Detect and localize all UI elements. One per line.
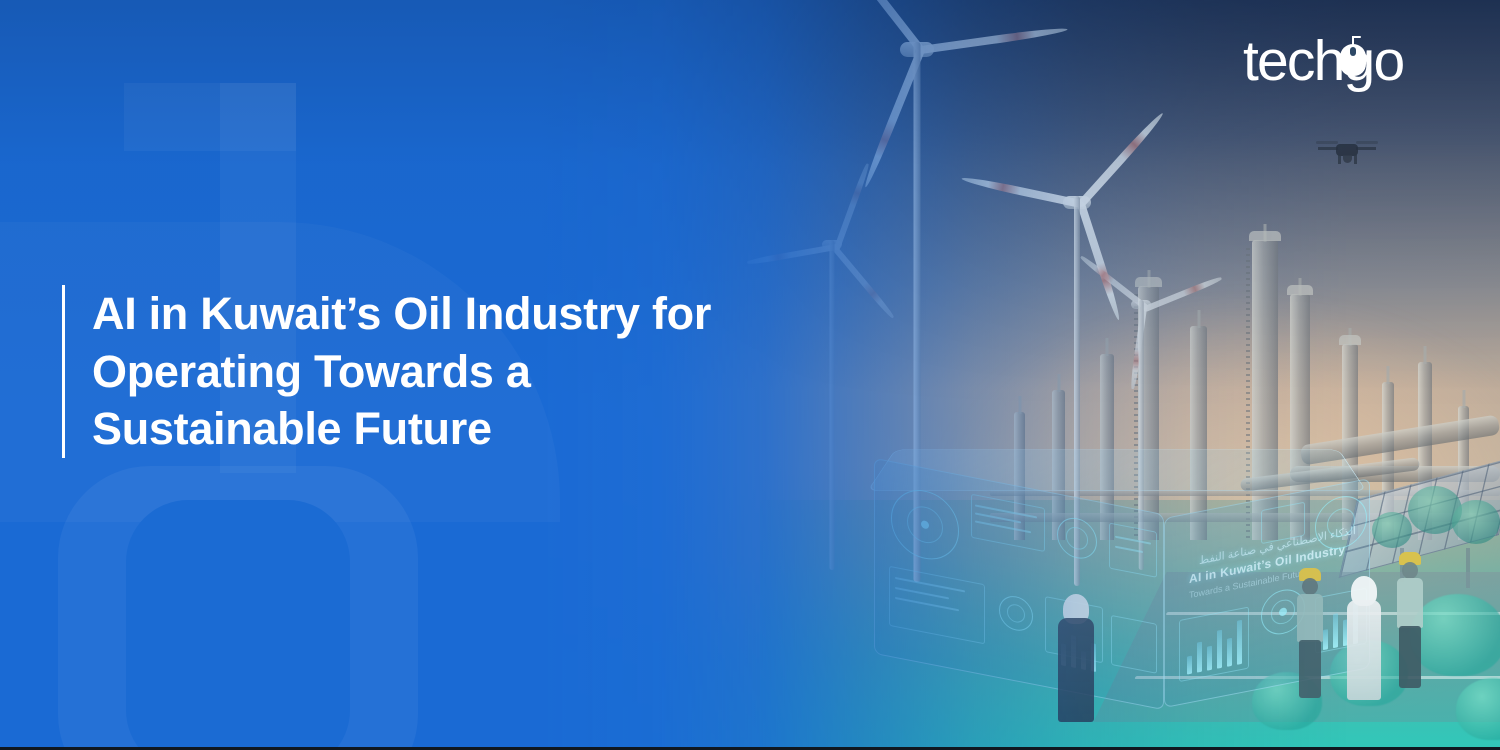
accent-bar bbox=[62, 285, 65, 458]
headline-block: AI in Kuwait’s Oil Industry for Operatin… bbox=[62, 285, 772, 458]
hero-banner: الذكاء الاصطناعي في صناعة النفط AI in Ku… bbox=[0, 0, 1500, 750]
logo-text-before: tech bbox=[1243, 33, 1344, 90]
page-title: AI in Kuwait’s Oil Industry for Operatin… bbox=[92, 285, 772, 458]
techugo-logo[interactable]: tech go bbox=[1243, 30, 1403, 92]
computer-mouse-icon bbox=[1340, 36, 1366, 76]
